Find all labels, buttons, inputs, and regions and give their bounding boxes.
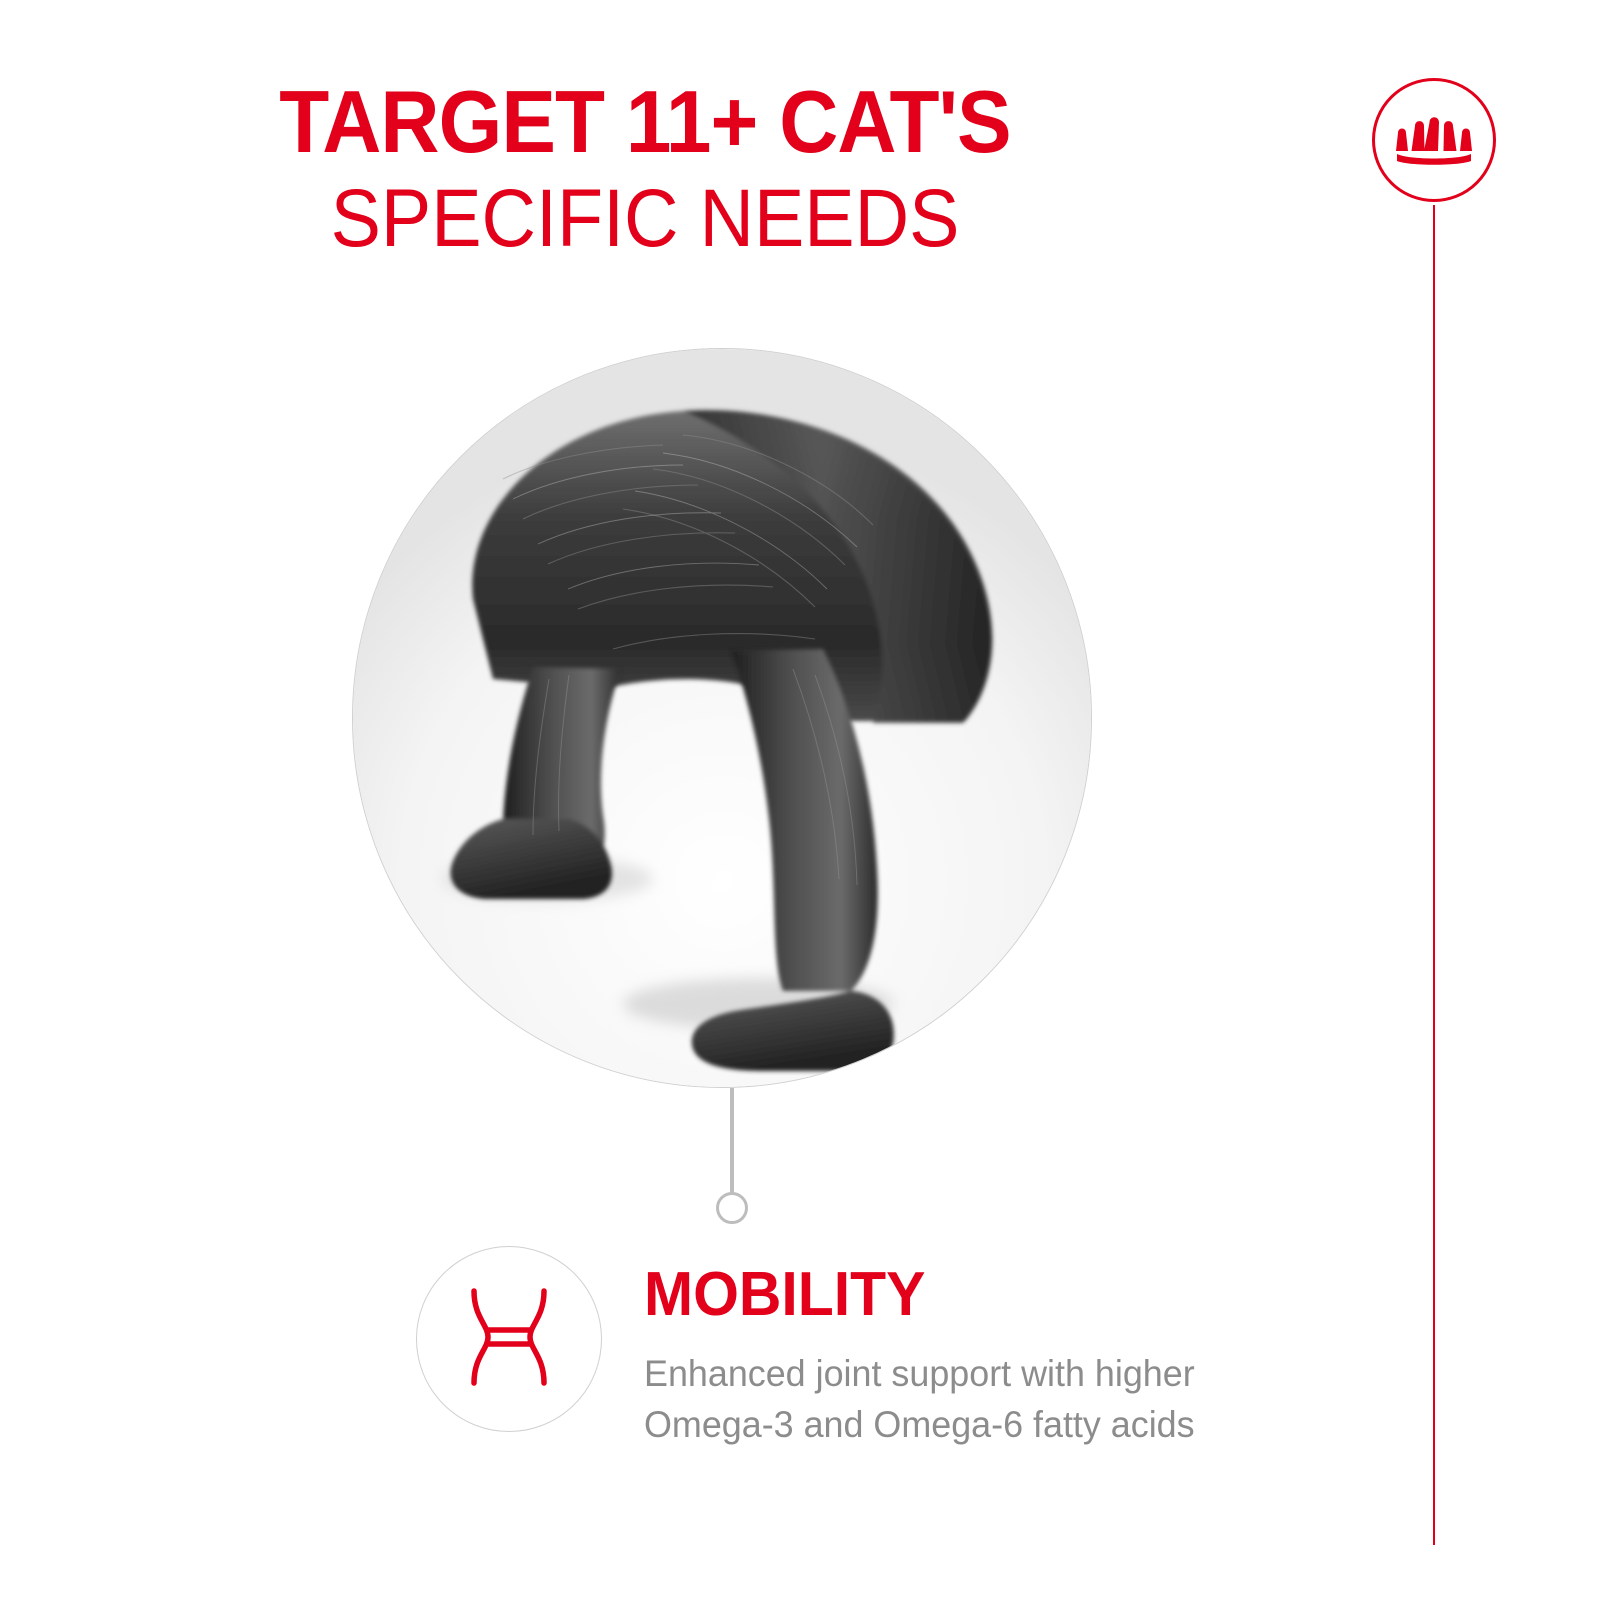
- benefit-description-line-2: Omega-3 and Omega-6 fatty acids: [644, 1399, 1362, 1450]
- benefit-description: Enhanced joint support with higher Omega…: [644, 1348, 1362, 1450]
- benefit-title: MOBILITY: [644, 1264, 1347, 1326]
- connector-ring: [716, 1192, 748, 1224]
- benefit-text: MOBILITY Enhanced joint support with hig…: [644, 1264, 1384, 1450]
- royal-canin-crown-icon: [1395, 113, 1473, 167]
- brand-logo: [1372, 78, 1496, 202]
- headline-line-2: SPECIFIC NEEDS: [52, 178, 1239, 260]
- joint-mobility-icon: [416, 1246, 602, 1432]
- connector-line: [730, 1088, 734, 1196]
- cat-legs-illustration: [353, 349, 1092, 1088]
- vertical-red-divider: [1433, 205, 1435, 1545]
- cat-legs-photo: [352, 348, 1092, 1088]
- joint-icon-glyph: [450, 1283, 568, 1395]
- benefit-description-line-1: Enhanced joint support with higher: [644, 1348, 1362, 1399]
- page-title: TARGET 11+ CAT'S SPECIFIC NEEDS: [0, 78, 1290, 260]
- headline-line-1: TARGET 11+ CAT'S: [45, 78, 1245, 166]
